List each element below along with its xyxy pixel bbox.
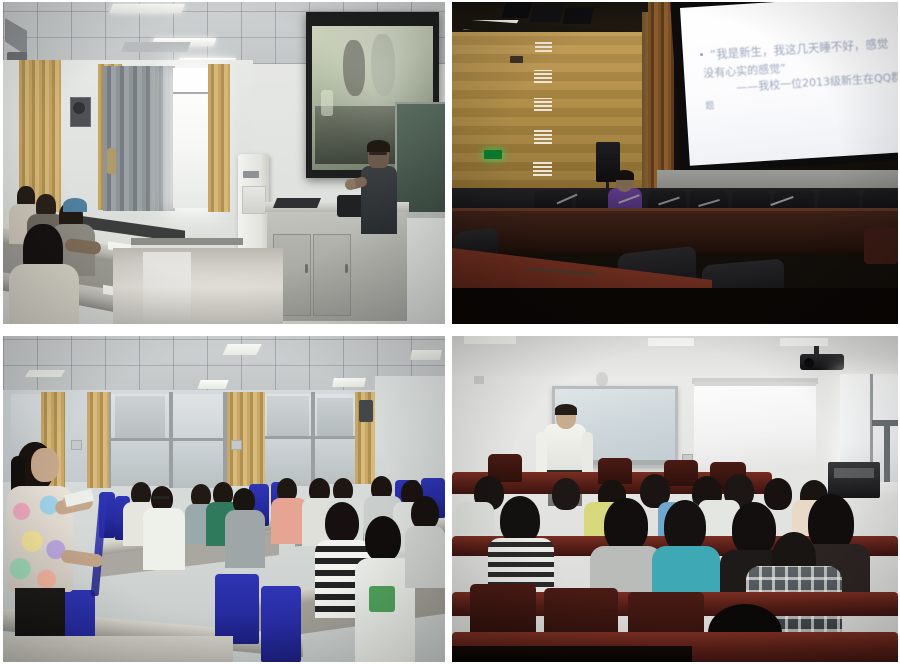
wall-vent-grille	[535, 40, 552, 52]
wall-vent-grille	[534, 98, 552, 111]
lecturer-arm	[582, 432, 593, 476]
photo-bottom-left	[3, 336, 445, 662]
student-head-foreground	[365, 516, 401, 562]
ceiling-light-fixture	[25, 370, 65, 377]
side-seat-dark	[864, 228, 898, 264]
audience-body	[456, 502, 494, 534]
projected-photo-highlight	[321, 90, 333, 116]
building-outside	[115, 396, 165, 440]
podium-cabinet-door	[313, 234, 351, 316]
wall-notice	[474, 376, 484, 384]
slide-line-4: 题	[705, 98, 715, 112]
projection-screen	[694, 382, 816, 468]
building-outside	[267, 396, 309, 438]
stage-light	[530, 4, 564, 22]
photo-top-left	[3, 2, 445, 324]
speaker-grille	[73, 102, 85, 114]
wall-vent-grille	[533, 162, 552, 176]
wall-outlet	[231, 440, 242, 450]
baseboard	[131, 238, 243, 245]
classroom-floor	[113, 248, 283, 324]
cabinet-handle[interactable]	[305, 264, 308, 273]
photo-top-right: “我是新生，我这几天睡不好，感觉 没有心实的感觉” ——我校一位2013级新生在…	[452, 2, 898, 324]
stage-light	[563, 8, 594, 24]
ac-display-panel	[243, 171, 259, 178]
window-transom	[265, 436, 357, 439]
slide-line-1: “我是新生，我这几天睡不好，感觉	[710, 35, 889, 62]
ceiling-light-panel	[464, 336, 516, 344]
audience-head-near	[500, 496, 540, 544]
presenter-hair	[367, 140, 390, 152]
student-glasses	[153, 496, 169, 499]
window	[173, 68, 213, 208]
aisle-floor	[452, 646, 692, 662]
classroom-chair	[261, 586, 301, 662]
student-body	[225, 510, 265, 568]
ceiling-light-panel	[780, 338, 828, 346]
student-body-foreground	[405, 526, 445, 588]
av-equipment-panel	[834, 468, 874, 478]
projected-photo-figure	[371, 34, 395, 96]
ceiling-light-panel	[648, 338, 694, 346]
ac-vent	[242, 186, 266, 214]
ceiling-light-panel	[410, 350, 442, 360]
ceiling-light-panel	[109, 4, 185, 13]
projected-photo-figure	[343, 40, 365, 96]
curtain-gold	[87, 392, 109, 488]
photo-bottom-right	[452, 336, 898, 662]
floor	[3, 636, 233, 662]
projector-lens	[804, 358, 814, 368]
right-wall	[375, 376, 445, 492]
student-head-foreground	[325, 502, 359, 544]
presenter-hand	[345, 179, 356, 190]
audience-head-near	[664, 500, 706, 552]
seated-speaker-hair	[615, 170, 634, 180]
wall-vent-grille	[534, 70, 552, 83]
stage-light	[501, 2, 532, 18]
ceiling-light-panel	[332, 378, 366, 387]
slide-bullet	[700, 53, 703, 56]
ceiling-light-panel	[197, 380, 228, 389]
tshirt-graphic	[369, 586, 395, 612]
wall-fixture	[510, 56, 523, 63]
laptop-on-podium	[273, 198, 321, 208]
student-headscarf	[63, 198, 87, 212]
wall-speaker	[359, 400, 373, 422]
ceiling-speaker	[596, 372, 608, 386]
lecturer-arm	[536, 432, 547, 476]
student-head-foreground	[411, 496, 439, 530]
ceiling-light-panel	[222, 344, 261, 355]
curtain-gold	[227, 392, 265, 486]
audience-head-near	[732, 502, 776, 556]
curtain-right-gold	[208, 64, 230, 212]
photo-collage: “我是新生，我这几天睡不好，感觉 没有心实的感觉” ——我校一位2013级新生在…	[0, 0, 900, 664]
window-pane	[173, 394, 223, 488]
emergency-exit-sign	[484, 150, 502, 159]
projector-mount	[814, 346, 819, 356]
presenter-body	[361, 166, 397, 234]
building-outside	[317, 398, 353, 438]
floor-reflection	[143, 252, 191, 324]
student-body	[143, 508, 185, 570]
window-mullion	[311, 392, 315, 486]
foreground-seat-back	[470, 584, 536, 634]
audience-head-near	[604, 498, 648, 552]
cabinet-handle[interactable]	[345, 264, 348, 273]
table-edge-highlight	[452, 208, 898, 211]
curtain-tieback	[107, 148, 116, 174]
wall-vent-grille	[534, 130, 552, 144]
window-frame	[173, 92, 213, 94]
presenter-glasses	[369, 152, 387, 155]
lecturer-hair	[555, 404, 577, 415]
audience-head	[764, 478, 792, 510]
ceiling-vent	[121, 42, 191, 52]
audience-head	[552, 478, 580, 510]
seat-back	[664, 460, 698, 486]
curtain-grey	[103, 66, 175, 211]
student-body-foreground	[9, 264, 79, 324]
green-chalkboard	[395, 102, 445, 218]
presenter-head	[31, 448, 59, 482]
window-frame-dark	[884, 420, 890, 482]
stage-floor	[452, 288, 898, 324]
classroom-chair	[215, 574, 259, 644]
wall-outlet	[71, 440, 82, 450]
lecturer-shirt	[544, 424, 586, 474]
slide-text-block: “我是新生，我这几天睡不好，感觉 没有心实的感觉” ——我校一位2013级新生在…	[686, 8, 898, 122]
window-transom	[107, 438, 223, 441]
